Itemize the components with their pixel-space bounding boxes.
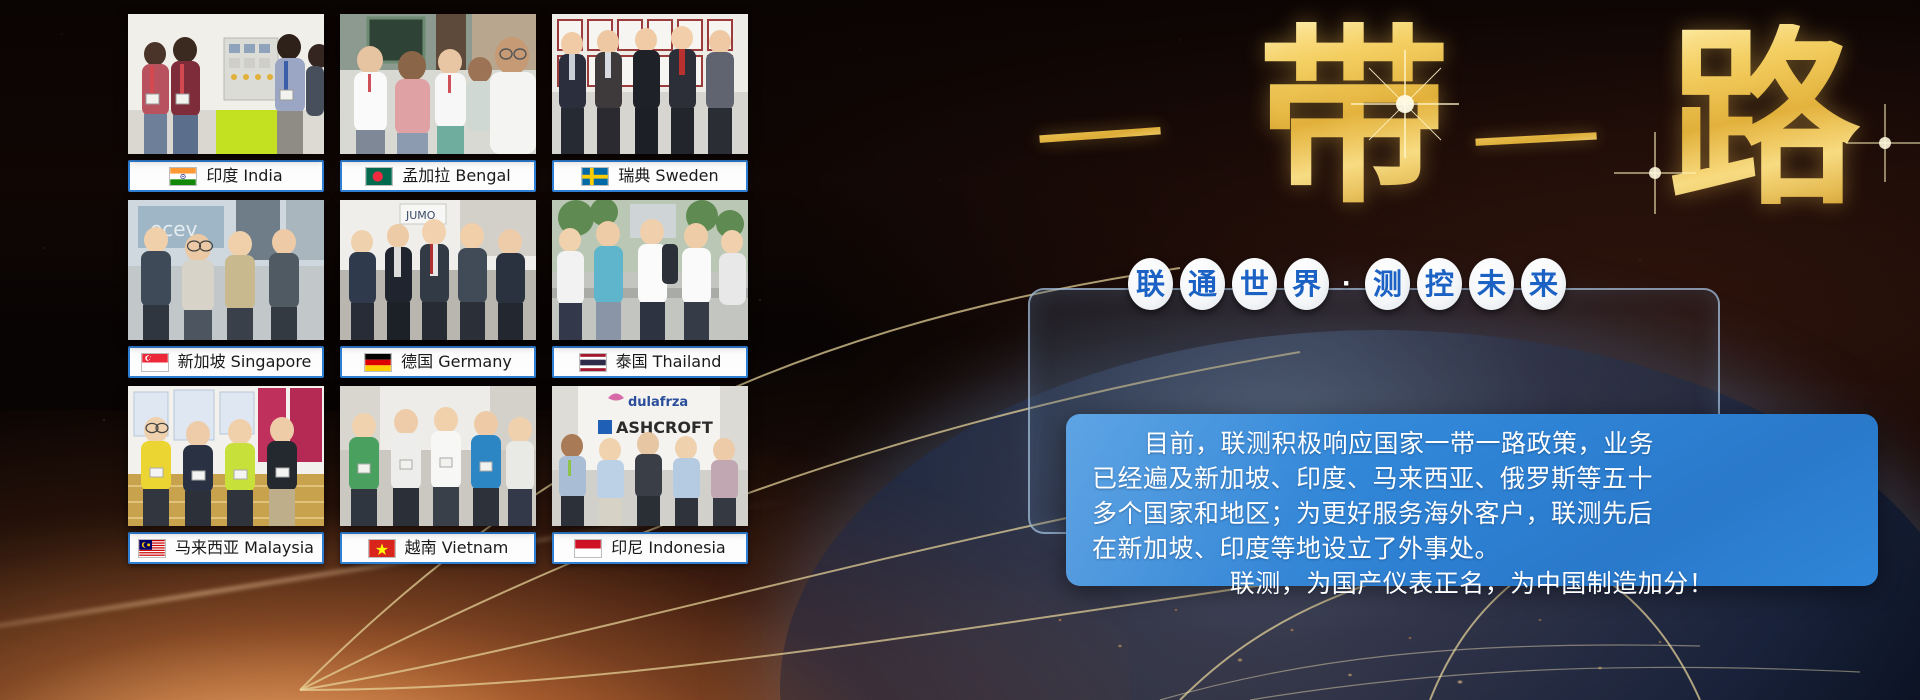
country-photo: dulafrza ASHCROFT bbox=[552, 386, 748, 526]
country-photo bbox=[128, 14, 324, 154]
grid-item[interactable]: 泰国 Thailand bbox=[552, 200, 748, 386]
grid-item[interactable]: 马来西亚 Malaysia bbox=[128, 386, 324, 572]
flag-india-icon bbox=[169, 167, 197, 186]
country-label: 瑞典 Sweden bbox=[618, 168, 718, 184]
country-photo bbox=[128, 386, 324, 526]
country-photo bbox=[552, 200, 748, 340]
country-label: 越南 Vietnam bbox=[405, 540, 509, 556]
headline-char-3: 一 bbox=[1470, 107, 1601, 178]
slogan-separator: · bbox=[1336, 258, 1358, 310]
slogan-row: 联 通 世 界 · 测 控 未 来 bbox=[1128, 258, 1566, 310]
country-photo bbox=[552, 14, 748, 154]
description-line: 在新加坡、印度等地设立了外事处。 bbox=[1092, 531, 1852, 566]
country-photo: ecev bbox=[128, 200, 324, 340]
grid-item[interactable]: JUMO bbox=[340, 200, 536, 386]
country-caption: 马来西亚 Malaysia bbox=[128, 532, 324, 564]
slogan-char: 控 bbox=[1417, 258, 1462, 310]
svg-text:dulafrza: dulafrza bbox=[628, 395, 688, 410]
country-label: 德国 Germany bbox=[401, 354, 512, 370]
grid-item[interactable]: dulafrza ASHCROFT bbox=[552, 386, 748, 572]
headline-char-2: 带 bbox=[1258, 22, 1450, 214]
flag-malaysia-icon bbox=[138, 539, 166, 558]
slogan-char: 未 bbox=[1469, 258, 1514, 310]
headline-char-4: 路 bbox=[1668, 24, 1860, 216]
description-box: 目前，联测积极响应国家一带一路政策，业务 已经遍及新加坡、印度、马来西亚、俄罗斯… bbox=[1066, 414, 1878, 586]
slogan-char: 来 bbox=[1521, 258, 1566, 310]
slogan-char: 测 bbox=[1365, 258, 1410, 310]
country-photo-grid: 印度 India bbox=[128, 14, 768, 584]
belt-and-road-banner: 印度 India bbox=[0, 0, 1920, 700]
country-label: 马来西亚 Malaysia bbox=[175, 540, 314, 556]
flag-indonesia-icon bbox=[574, 539, 602, 558]
slogan-char: 世 bbox=[1232, 258, 1277, 310]
grid-item[interactable]: ecev bbox=[128, 200, 324, 386]
grid-item[interactable]: 瑞典 Sweden bbox=[552, 14, 748, 200]
country-label: 印尼 Indonesia bbox=[611, 540, 725, 556]
grid-item[interactable]: 孟加拉 Bengal bbox=[340, 14, 536, 200]
headline-char-1: 一 bbox=[1034, 100, 1166, 175]
description-line: 目前，联测积极响应国家一带一路政策，业务 bbox=[1092, 426, 1852, 461]
flag-vietnam-icon bbox=[368, 539, 396, 558]
svg-text:ASHCROFT: ASHCROFT bbox=[616, 418, 713, 437]
flag-thailand-icon bbox=[579, 353, 607, 372]
slogan-char: 联 bbox=[1128, 258, 1173, 310]
country-label: 印度 India bbox=[206, 168, 282, 184]
country-photo bbox=[340, 14, 536, 154]
country-caption: 印度 India bbox=[128, 160, 324, 192]
grid-item[interactable]: 越南 Vietnam bbox=[340, 386, 536, 572]
country-caption: 越南 Vietnam bbox=[340, 532, 536, 564]
country-photo: JUMO bbox=[340, 200, 536, 340]
flag-singapore-icon bbox=[141, 353, 169, 372]
country-caption: 孟加拉 Bengal bbox=[340, 160, 536, 192]
flag-germany-icon bbox=[364, 353, 392, 372]
country-photo bbox=[340, 386, 536, 526]
description-line: 联测，为国产仪表正名，为中国制造加分！ bbox=[1092, 566, 1852, 601]
description-line: 多个国家和地区；为更好服务海外客户，联测先后 bbox=[1092, 496, 1852, 531]
country-caption: 新加坡 Singapore bbox=[128, 346, 324, 378]
country-label: 新加坡 Singapore bbox=[178, 354, 312, 370]
flag-bangladesh-icon bbox=[365, 167, 393, 186]
description-line: 已经遍及新加坡、印度、马来西亚、俄罗斯等五十 bbox=[1092, 461, 1852, 496]
slogan-char: 通 bbox=[1180, 258, 1225, 310]
country-label: 孟加拉 Bengal bbox=[402, 168, 510, 184]
slogan-char: 界 bbox=[1284, 258, 1329, 310]
headline-calligraphy: 一 带 一 路 bbox=[1020, 8, 1900, 224]
grid-item[interactable]: 印度 India bbox=[128, 14, 324, 200]
flag-sweden-icon bbox=[581, 167, 609, 186]
country-caption: 印尼 Indonesia bbox=[552, 532, 748, 564]
country-caption: 德国 Germany bbox=[340, 346, 536, 378]
country-caption: 泰国 Thailand bbox=[552, 346, 748, 378]
country-label: 泰国 Thailand bbox=[616, 354, 722, 370]
country-caption: 瑞典 Sweden bbox=[552, 160, 748, 192]
